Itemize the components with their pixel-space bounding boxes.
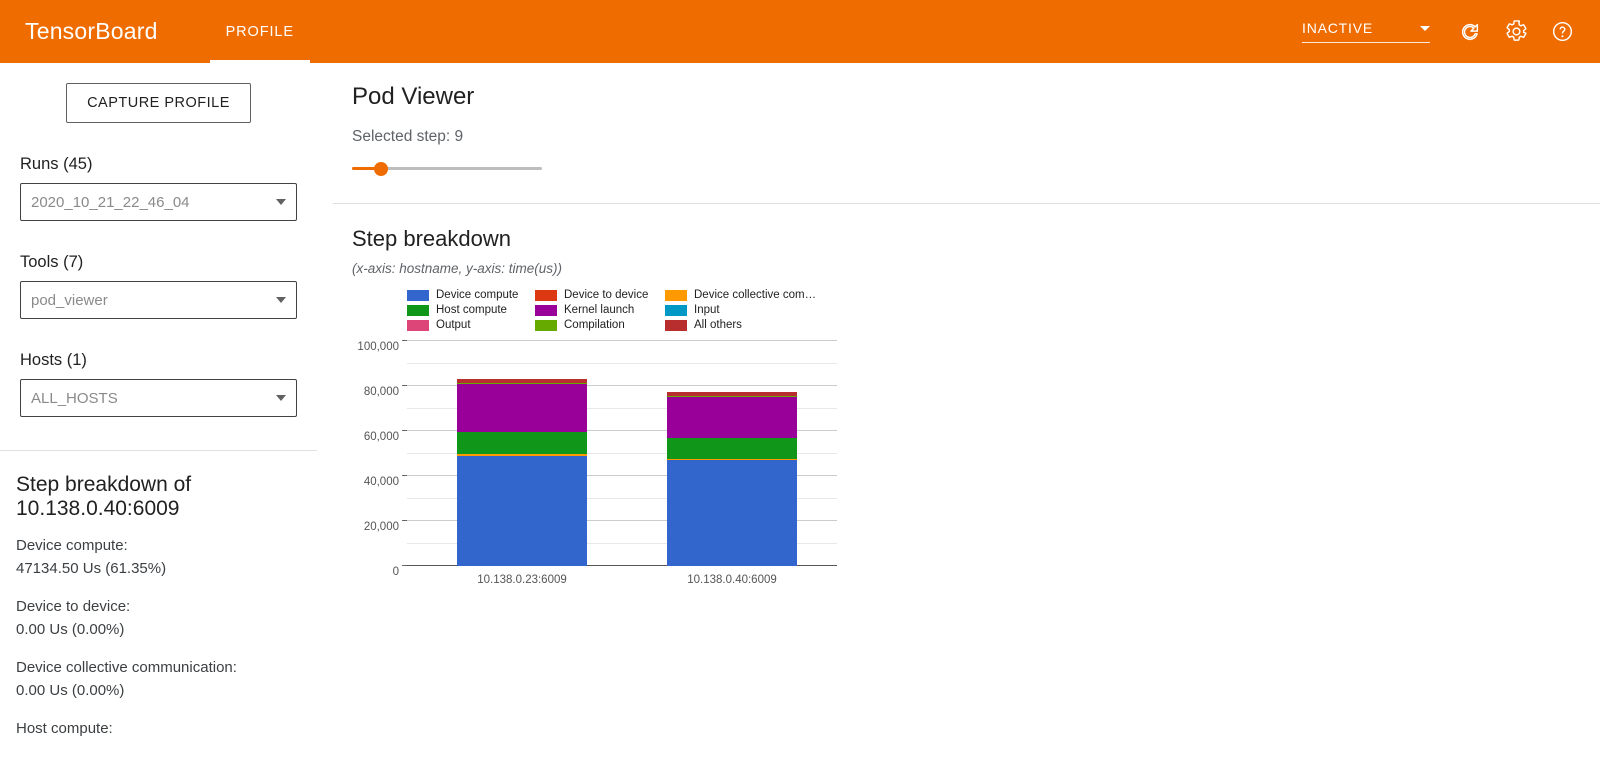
y-tick-mark (402, 340, 407, 341)
app-bar-actions: INACTIVE (1302, 12, 1582, 52)
y-tick-mark (402, 385, 407, 386)
chevron-down-icon (276, 395, 286, 401)
runs-select[interactable]: 2020_10_21_22_46_04 (20, 183, 297, 221)
gridline-minor (407, 363, 837, 364)
detail-list: Device compute: 47134.50 Us (61.35%) Dev… (16, 535, 301, 741)
legend-item[interactable]: Kernel launch (535, 303, 665, 318)
bar-segment[interactable] (667, 460, 797, 566)
page-title: Pod Viewer (352, 83, 1600, 111)
bar-segment[interactable] (457, 432, 587, 454)
legend-item[interactable]: Input (665, 303, 825, 318)
status-value: INACTIVE (1302, 20, 1373, 36)
legend-swatch (407, 290, 429, 301)
y-tick-mark (402, 475, 407, 476)
main-divider (333, 203, 1600, 204)
tools-field: Tools (7) pod_viewer (20, 253, 297, 319)
legend-label: Compilation (564, 320, 625, 332)
chevron-down-icon (276, 199, 286, 205)
tools-selected-value: pod_viewer (31, 292, 108, 309)
legend-swatch (665, 305, 687, 316)
chevron-down-icon (276, 297, 286, 303)
capture-profile-wrap: CAPTURE PROFILE (0, 63, 317, 123)
legend-label: Input (694, 305, 720, 317)
capture-profile-button[interactable]: CAPTURE PROFILE (66, 83, 251, 123)
refresh-icon (1459, 21, 1481, 43)
y-tick-mark (402, 520, 407, 521)
legend-label: Device to device (564, 290, 648, 302)
hosts-select[interactable]: ALL_HOSTS (20, 379, 297, 417)
legend-swatch (665, 320, 687, 331)
y-tick-mark (402, 430, 407, 431)
legend-item[interactable]: Device to device (535, 288, 665, 303)
bar-segment[interactable] (457, 456, 587, 566)
sidebar-divider (0, 450, 317, 451)
step-breakdown-subtitle: (x-axis: hostname, y-axis: time(us)) (352, 261, 1600, 276)
detail-value: 0.00 Us (0.00%) (16, 680, 301, 703)
detail-value: 0.00 Us (0.00%) (16, 619, 301, 642)
gridline-major (407, 340, 837, 341)
help-icon (1551, 20, 1574, 43)
hosts-selected-value: ALL_HOSTS (31, 390, 118, 407)
chart-plot-area: 020,00040,00060,00080,000100,00010.138.0… (407, 341, 837, 566)
detail-key: Device collective communication: (16, 657, 301, 680)
runs-selected-value: 2020_10_21_22_46_04 (31, 194, 190, 211)
step-breakdown-chart[interactable]: Device computeDevice to deviceDevice col… (352, 286, 852, 586)
legend-item[interactable]: All others (665, 318, 825, 333)
slider-thumb[interactable] (374, 162, 388, 176)
chevron-down-icon (1420, 26, 1430, 31)
chart-legend: Device computeDevice to deviceDevice col… (407, 288, 827, 333)
legend-swatch (535, 290, 557, 301)
legend-item[interactable]: Host compute (407, 303, 535, 318)
status-dropdown[interactable]: INACTIVE (1302, 20, 1430, 43)
bar-segment[interactable] (667, 397, 797, 439)
bar-segment[interactable] (457, 384, 587, 432)
x-axis-tick-label: 10.138.0.40:6009 (652, 574, 812, 586)
legend-swatch (535, 305, 557, 316)
app-brand: TensorBoard (25, 18, 158, 45)
legend-swatch (665, 290, 687, 301)
refresh-button[interactable] (1450, 12, 1490, 52)
runs-label: Runs (45) (20, 155, 297, 174)
chart-bar[interactable]: 10.138.0.23:6009 (457, 379, 587, 566)
top-app-bar: TensorBoard PROFILE INACTIVE (0, 0, 1600, 63)
help-button[interactable] (1542, 12, 1582, 52)
chart-bar[interactable]: 10.138.0.40:6009 (667, 392, 797, 566)
tools-label: Tools (7) (20, 253, 297, 272)
runs-field: Runs (45) 2020_10_21_22_46_04 (20, 155, 297, 221)
hosts-label: Hosts (1) (20, 351, 297, 370)
nav-tabs: PROFILE (210, 0, 310, 63)
legend-label: Device compute (436, 290, 518, 302)
detail-key: Device to device: (16, 596, 301, 619)
bar-segment[interactable] (667, 438, 797, 458)
y-tick-mark (402, 565, 407, 566)
detail-item: Host compute: (16, 718, 301, 741)
detail-panel-title: Step breakdown of 10.138.0.40:6009 (16, 473, 301, 521)
legend-item[interactable]: Compilation (535, 318, 665, 333)
detail-key: Device compute: (16, 535, 301, 558)
hosts-field: Hosts (1) ALL_HOSTS (20, 351, 297, 417)
legend-item[interactable]: Device compute (407, 288, 535, 303)
left-sidebar: CAPTURE PROFILE Runs (45) 2020_10_21_22_… (0, 63, 317, 771)
x-axis-tick-label: 10.138.0.23:6009 (442, 574, 602, 586)
legend-item[interactable]: Device collective com… (665, 288, 825, 303)
detail-value: 47134.50 Us (61.35%) (16, 558, 301, 581)
legend-label: Output (436, 320, 471, 332)
legend-item[interactable]: Output (407, 318, 535, 333)
legend-swatch (407, 320, 429, 331)
legend-label: Device collective com… (694, 290, 816, 302)
detail-item: Device compute: 47134.50 Us (61.35%) (16, 535, 301, 580)
legend-swatch (407, 305, 429, 316)
settings-button[interactable] (1496, 12, 1536, 52)
detail-key: Host compute: (16, 718, 301, 741)
legend-label: All others (694, 320, 742, 332)
selected-step-label: Selected step: 9 (352, 128, 1600, 146)
detail-item: Device to device: 0.00 Us (0.00%) (16, 596, 301, 641)
step-breakdown-title: Step breakdown (352, 226, 1600, 252)
detail-item: Device collective communication: 0.00 Us… (16, 657, 301, 702)
tools-select[interactable]: pod_viewer (20, 281, 297, 319)
main-content: Pod Viewer Selected step: 9 Step breakdo… (333, 63, 1600, 771)
gear-icon (1505, 20, 1528, 43)
tab-profile[interactable]: PROFILE (210, 0, 310, 63)
legend-swatch (535, 320, 557, 331)
legend-label: Host compute (436, 305, 507, 317)
legend-label: Kernel launch (564, 305, 634, 317)
step-slider[interactable] (352, 160, 542, 178)
